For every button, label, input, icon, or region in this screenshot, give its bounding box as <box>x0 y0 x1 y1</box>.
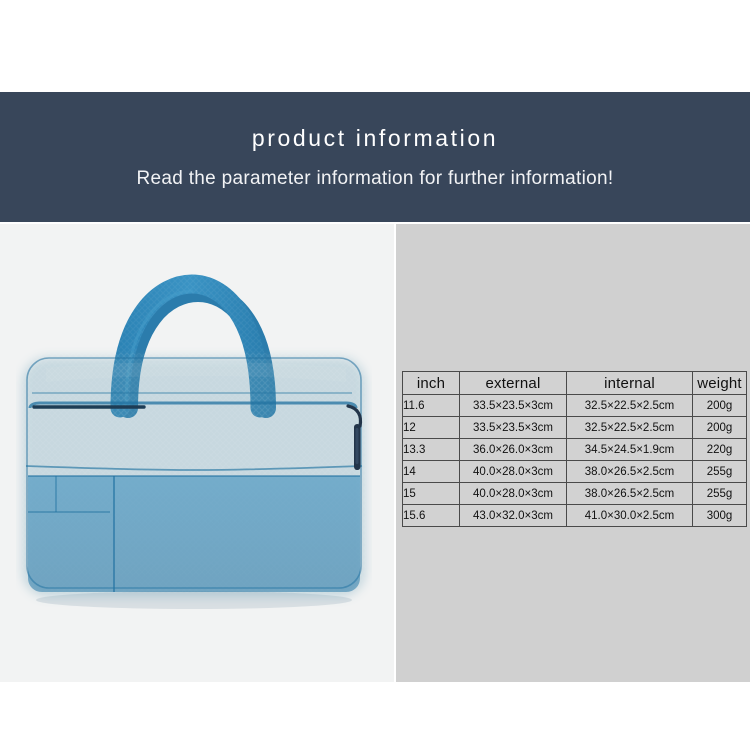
cell-weight: 200g <box>693 395 747 417</box>
cell-inch: 15.6 <box>403 505 460 527</box>
column-header-weight: weight <box>693 372 747 395</box>
table-header-row: inch external internal weight <box>403 372 747 395</box>
cell-inch: 11.6 <box>403 395 460 417</box>
product-image-panel <box>0 224 394 682</box>
product-information-banner: product information Read the parameter i… <box>0 92 750 222</box>
column-header-inch: inch <box>403 372 460 395</box>
cell-inch: 15 <box>403 483 460 505</box>
page-subtitle: Read the parameter information for furth… <box>137 169 614 188</box>
cell-external: 36.0×26.0×3cm <box>460 439 567 461</box>
table-row: 15 40.0×28.0×3cm 38.0×26.5×2.5cm 255g <box>403 483 747 505</box>
cell-external: 33.5×23.5×3cm <box>460 395 567 417</box>
cell-weight: 220g <box>693 439 747 461</box>
cell-internal: 38.0×26.5×2.5cm <box>567 483 693 505</box>
laptop-bag-illustration <box>16 248 372 624</box>
product-shadow <box>36 591 352 609</box>
specifications-panel: inch external internal weight 11.6 33.5×… <box>396 224 750 682</box>
column-header-external: external <box>460 372 567 395</box>
cell-external: 40.0×28.0×3cm <box>460 483 567 505</box>
bag-front-pocket <box>28 476 360 592</box>
table-row: 15.6 43.0×32.0×3cm 41.0×30.0×2.5cm 300g <box>403 505 747 527</box>
cell-internal: 34.5×24.5×1.9cm <box>567 439 693 461</box>
spec-table-container: inch external internal weight 11.6 33.5×… <box>402 371 746 527</box>
cell-weight: 300g <box>693 505 747 527</box>
cell-inch: 12 <box>403 417 460 439</box>
table-row: 14 40.0×28.0×3cm 38.0×26.5×2.5cm 255g <box>403 461 747 483</box>
content-panels: inch external internal weight 11.6 33.5×… <box>0 224 750 682</box>
product-photo <box>16 248 372 624</box>
cell-inch: 14 <box>403 461 460 483</box>
product-information-page: product information Read the parameter i… <box>0 0 750 750</box>
column-header-internal: internal <box>567 372 693 395</box>
cell-internal: 41.0×30.0×2.5cm <box>567 505 693 527</box>
cell-internal: 38.0×26.5×2.5cm <box>567 461 693 483</box>
cell-weight: 200g <box>693 417 747 439</box>
table-row: 11.6 33.5×23.5×3cm 32.5×22.5×2.5cm 200g <box>403 395 747 417</box>
table-row: 12 33.5×23.5×3cm 32.5×22.5×2.5cm 200g <box>403 417 747 439</box>
cell-internal: 32.5×22.5×2.5cm <box>567 417 693 439</box>
cell-weight: 255g <box>693 461 747 483</box>
cell-inch: 13.3 <box>403 439 460 461</box>
cell-internal: 32.5×22.5×2.5cm <box>567 395 693 417</box>
specifications-table: inch external internal weight 11.6 33.5×… <box>402 371 747 527</box>
cell-external: 43.0×32.0×3cm <box>460 505 567 527</box>
table-row: 13.3 36.0×26.0×3cm 34.5×24.5×1.9cm 220g <box>403 439 747 461</box>
cell-external: 40.0×28.0×3cm <box>460 461 567 483</box>
cell-external: 33.5×23.5×3cm <box>460 417 567 439</box>
cell-weight: 255g <box>693 483 747 505</box>
page-title: product information <box>252 127 498 150</box>
